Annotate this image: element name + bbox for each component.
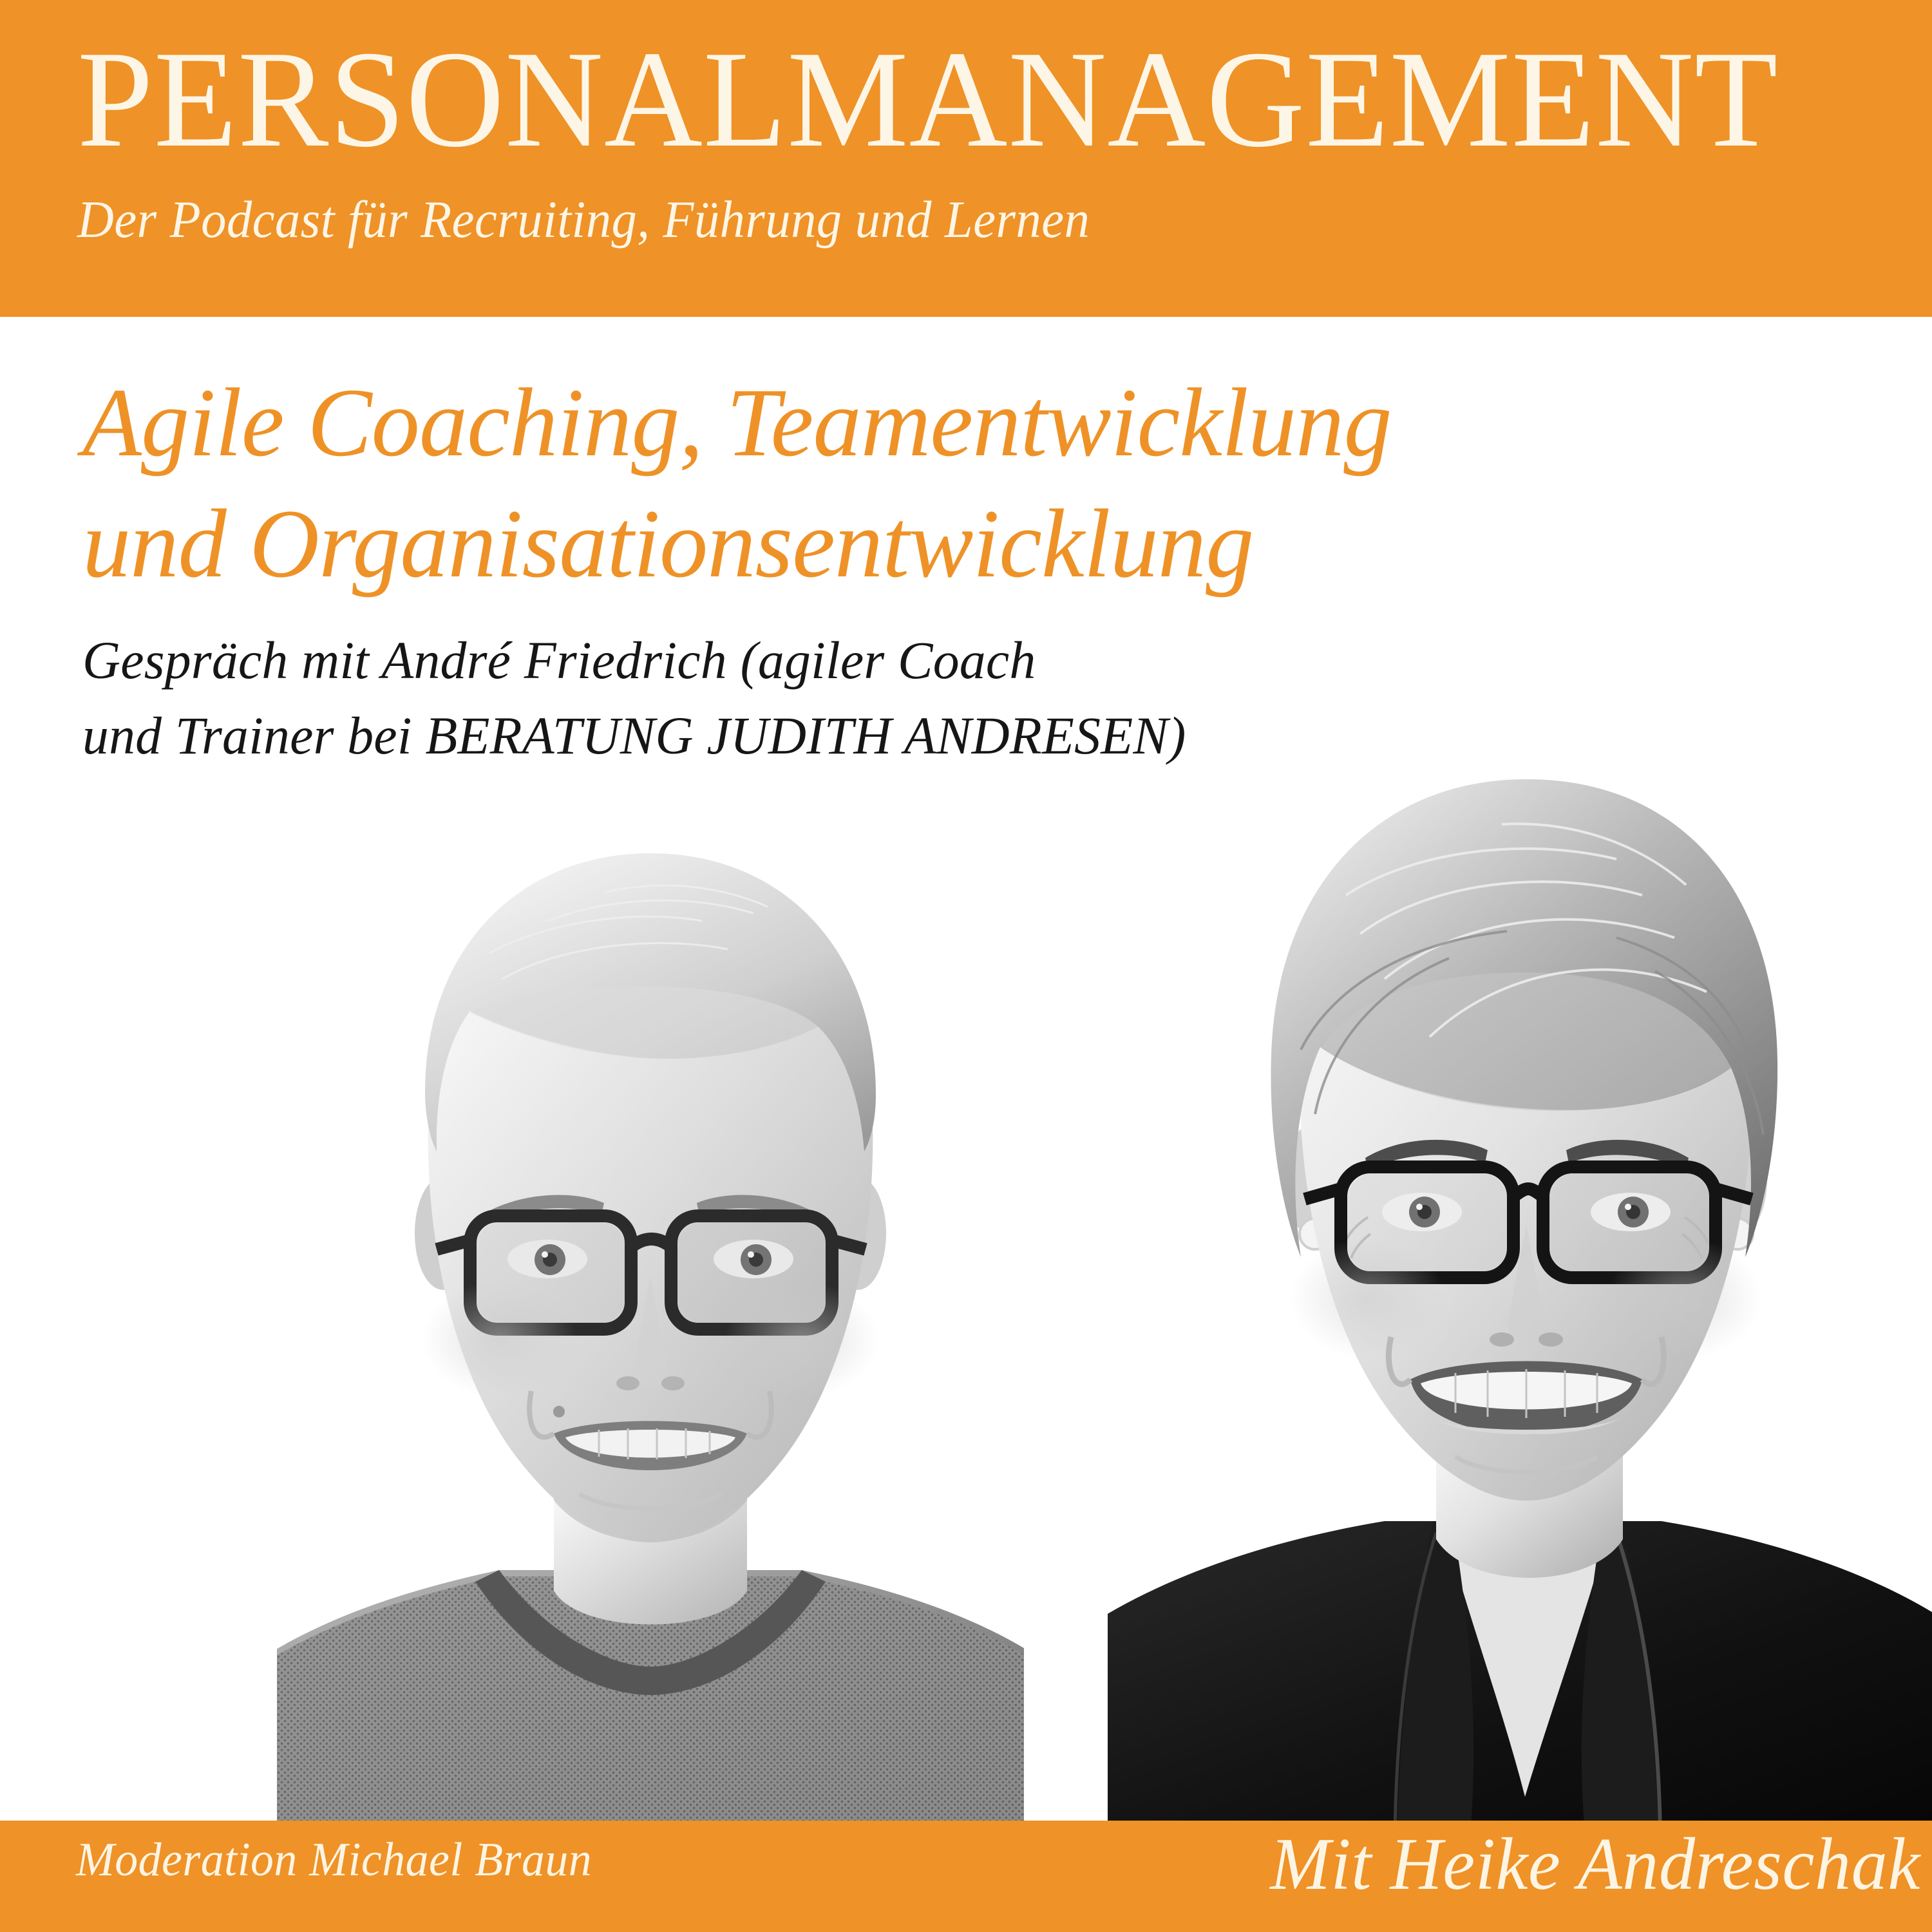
episode-description-line-2: und Trainer bei BERATUNG JUDITH ANDRESEN… xyxy=(82,709,1904,762)
episode-text-block: Agile Coaching, Teamentwicklung und Orga… xyxy=(0,317,1932,762)
brand-subtitle: Der Podcast für Recruiting, Führung und … xyxy=(77,193,1090,246)
footer-band: Moderation Michael Braun Mit Heike Andre… xyxy=(0,1821,1932,1932)
header-band: PERSONALMANAGEMENT Der Podcast für Recru… xyxy=(0,0,1932,317)
episode-title-line-1: Agile Coaching, Teamentwicklung xyxy=(82,374,1913,471)
episode-description-line-1: Gespräch mit André Friedrich (agiler Coa… xyxy=(82,634,1904,687)
host-credit: Mit Heike Andreschak xyxy=(1270,1827,1920,1902)
moderation-credit: Moderation Michael Braun xyxy=(76,1836,592,1884)
portrait-photo-group xyxy=(0,760,1932,1855)
episode-title-line-2: und Organisationsentwicklung xyxy=(82,495,1913,592)
portrait-andre-friedrich xyxy=(277,760,1024,1855)
brand-title: PERSONALMANAGEMENT xyxy=(77,30,1778,168)
podcast-cover-art: PERSONALMANAGEMENT Der Podcast für Recru… xyxy=(0,0,1932,1932)
portrait-heike-andreschak xyxy=(1108,702,1932,1855)
